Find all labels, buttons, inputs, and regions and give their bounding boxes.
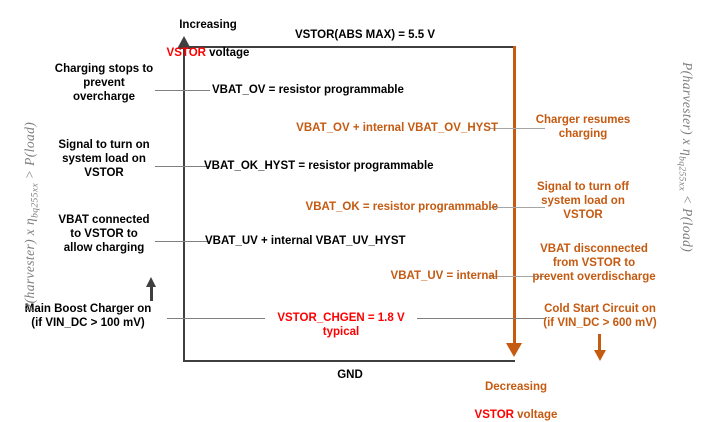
- side-right-prefix: P(harvester) x: [680, 62, 695, 149]
- annotation-signal-turn-off: Signal to turn off system load on VSTOR: [524, 180, 642, 222]
- side-right-suffix: < P(load): [680, 191, 695, 252]
- tick-vbat-ok-hyst: [155, 166, 210, 167]
- threshold-falling-vbat-ok: VBAT_OK = resistor programmable: [258, 200, 498, 214]
- side-right-sub: bq255xx: [676, 156, 686, 191]
- threshold-falling-vbat-ov-hyst: VBAT_OV + internal VBAT_OV_HYST: [258, 121, 498, 135]
- tick-vbat-ov: [155, 90, 210, 91]
- chgen-line-left: [167, 318, 265, 319]
- falling-edge-arrowhead-icon: [506, 343, 522, 357]
- annotation-vbat-connected: VBAT connected to VSTOR to allow chargin…: [48, 213, 160, 255]
- y-axis-line: [183, 47, 185, 362]
- side-caption-left: P(harvester) x ηbq255xx > P(load): [22, 122, 41, 312]
- falling-edge-line: [513, 46, 516, 343]
- side-left-eta: η: [22, 218, 37, 225]
- decreasing-caption-line1: Decreasing: [485, 381, 547, 393]
- side-caption-right: P(harvester) x ηbq255xx < P(load): [676, 62, 695, 252]
- side-right-eta: η: [680, 149, 695, 156]
- side-left-suffix: > P(load): [22, 122, 37, 183]
- boost-charger-up-arrow-stem: [150, 287, 153, 301]
- decreasing-caption-vstor: VSTOR: [475, 409, 514, 421]
- annotation-charger-resumes: Charger resumes charging: [524, 113, 642, 141]
- gnd-line: [183, 360, 515, 362]
- side-left-prefix: P(harvester) x: [22, 225, 37, 312]
- decreasing-vstor-caption: Decreasing VSTOR voltage: [456, 366, 576, 422]
- increasing-vstor-caption: Increasing VSTOR voltage: [148, 4, 268, 60]
- tick-vbat-uv-hyst: [155, 241, 210, 242]
- threshold-rising-vbat-uv-hyst: VBAT_UV + internal VBAT_UV_HYST: [205, 234, 505, 248]
- gnd-label: GND: [305, 368, 395, 382]
- annotation-signal-turn-on: Signal to turn on system load on VSTOR: [48, 138, 160, 180]
- vstor-threshold-diagram: Increasing VSTOR voltage VSTOR(ABS MAX) …: [0, 0, 707, 408]
- annotation-vbat-disconnected: VBAT disconnected from VSTOR to prevent …: [524, 242, 664, 284]
- side-left-sub: bq255xx: [31, 183, 41, 218]
- increasing-caption-line1: Increasing: [179, 19, 237, 31]
- increasing-caption-vstor: VSTOR: [167, 47, 206, 59]
- decreasing-caption-rest: voltage: [514, 409, 557, 421]
- chgen-label: VSTOR_CHGEN = 1.8 V typical: [265, 311, 417, 339]
- threshold-falling-vbat-uv: VBAT_UV = internal: [288, 269, 498, 283]
- annotation-charging-stops: Charging stops to prevent overcharge: [48, 62, 160, 104]
- vstor-abs-max-label: VSTOR(ABS MAX) = 5.5 V: [275, 28, 455, 42]
- threshold-rising-vbat-ok-hyst: VBAT_OK_HYST = resistor programmable: [204, 159, 504, 173]
- chgen-line-right: [417, 318, 545, 319]
- cold-start-down-arrow-icon: [594, 350, 606, 361]
- increasing-caption-rest: voltage: [206, 47, 249, 59]
- cold-start-down-arrow-stem: [598, 334, 601, 350]
- boost-charger-up-arrow-icon: [146, 277, 156, 287]
- threshold-rising-vbat-ov: VBAT_OV = resistor programmable: [212, 83, 502, 97]
- annotation-cold-start-circuit: Cold Start Circuit on (if VIN_DC > 600 m…: [530, 302, 670, 330]
